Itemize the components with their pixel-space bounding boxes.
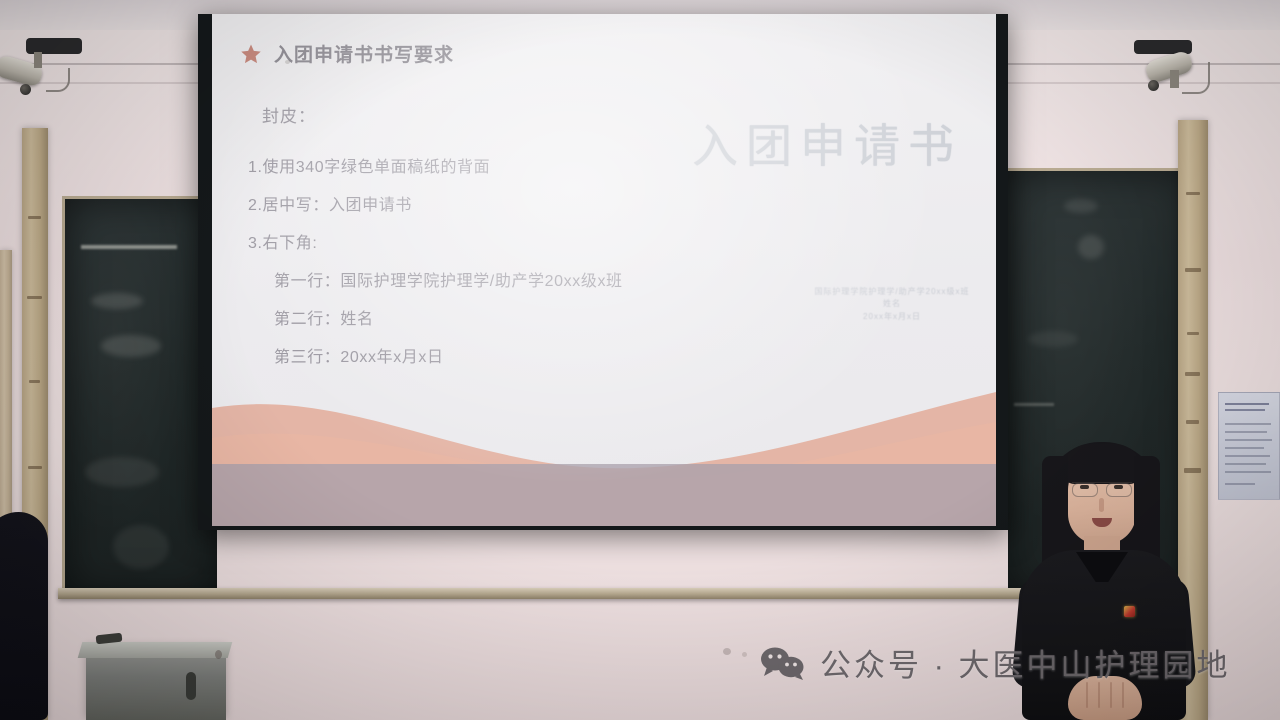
party-emblem-pin <box>1124 606 1135 617</box>
security-camera-right <box>1126 40 1256 140</box>
chalkboard-left <box>62 196 217 598</box>
presenter-nose <box>1099 498 1104 512</box>
screenshot-root: 入团申请书书写要求 封皮： 1.使用340字绿色单面稿纸的背面 2.居中写：入团… <box>0 0 1280 720</box>
slide-line-4: 第一行：国际护理学院护理学/助产学20xx级x班 <box>274 267 718 291</box>
slide-title-row: 入团申请书书写要求 <box>240 40 454 67</box>
lectern-top <box>78 642 233 658</box>
student-silhouette <box>0 512 48 720</box>
wall-speck-3 <box>742 652 747 657</box>
slide-section-label: 封皮： <box>262 102 718 127</box>
presentation-slide: 入团申请书书写要求 封皮： 1.使用340字绿色单面稿纸的背面 2.居中写：入团… <box>212 14 996 526</box>
handwritten-signature-block: 国际护理学院护理学/助产学20xx级x班 姓名 20xx年x月x日 <box>802 286 982 323</box>
presenter-hair-front <box>1062 444 1142 484</box>
slide-title: 入团申请书书写要求 <box>274 40 454 67</box>
handwritten-signature-line-2: 姓名 <box>802 298 982 310</box>
presenter-eye-right <box>1114 485 1123 489</box>
slide-line-2: 2.居中写：入团申请书 <box>248 191 718 215</box>
slide-body: 封皮： 1.使用340字绿色单面稿纸的背面 2.居中写：入团申请书 3.右下角:… <box>248 102 718 381</box>
slide-line-1: 1.使用340字绿色单面稿纸的背面 <box>248 153 718 177</box>
slide-line-6: 第三行：20xx年x月x日 <box>274 343 718 367</box>
wall-speck-2 <box>723 648 731 655</box>
slide-footer-decoration <box>212 366 996 526</box>
wall-speck-1 <box>215 650 222 659</box>
slide-line-5: 第二行：姓名 <box>274 305 718 329</box>
wall-notice-poster <box>1218 392 1280 500</box>
wall-speck-4 <box>285 60 290 64</box>
security-camera-left <box>0 38 120 134</box>
presenter <box>1006 438 1202 720</box>
lectern <box>86 648 226 720</box>
red-star-icon <box>240 43 262 65</box>
handwritten-cover-heading: 入团申请书 <box>692 110 962 176</box>
presenter-hands <box>1068 676 1142 720</box>
handwritten-signature-line-3: 20xx年x月x日 <box>802 311 982 323</box>
presenter-eye-left <box>1080 485 1089 489</box>
slide-line-3: 3.右下角: <box>248 229 718 253</box>
handwritten-signature-line-1: 国际护理学院护理学/助产学20xx级x班 <box>802 286 982 298</box>
lectern-handle <box>186 672 196 700</box>
